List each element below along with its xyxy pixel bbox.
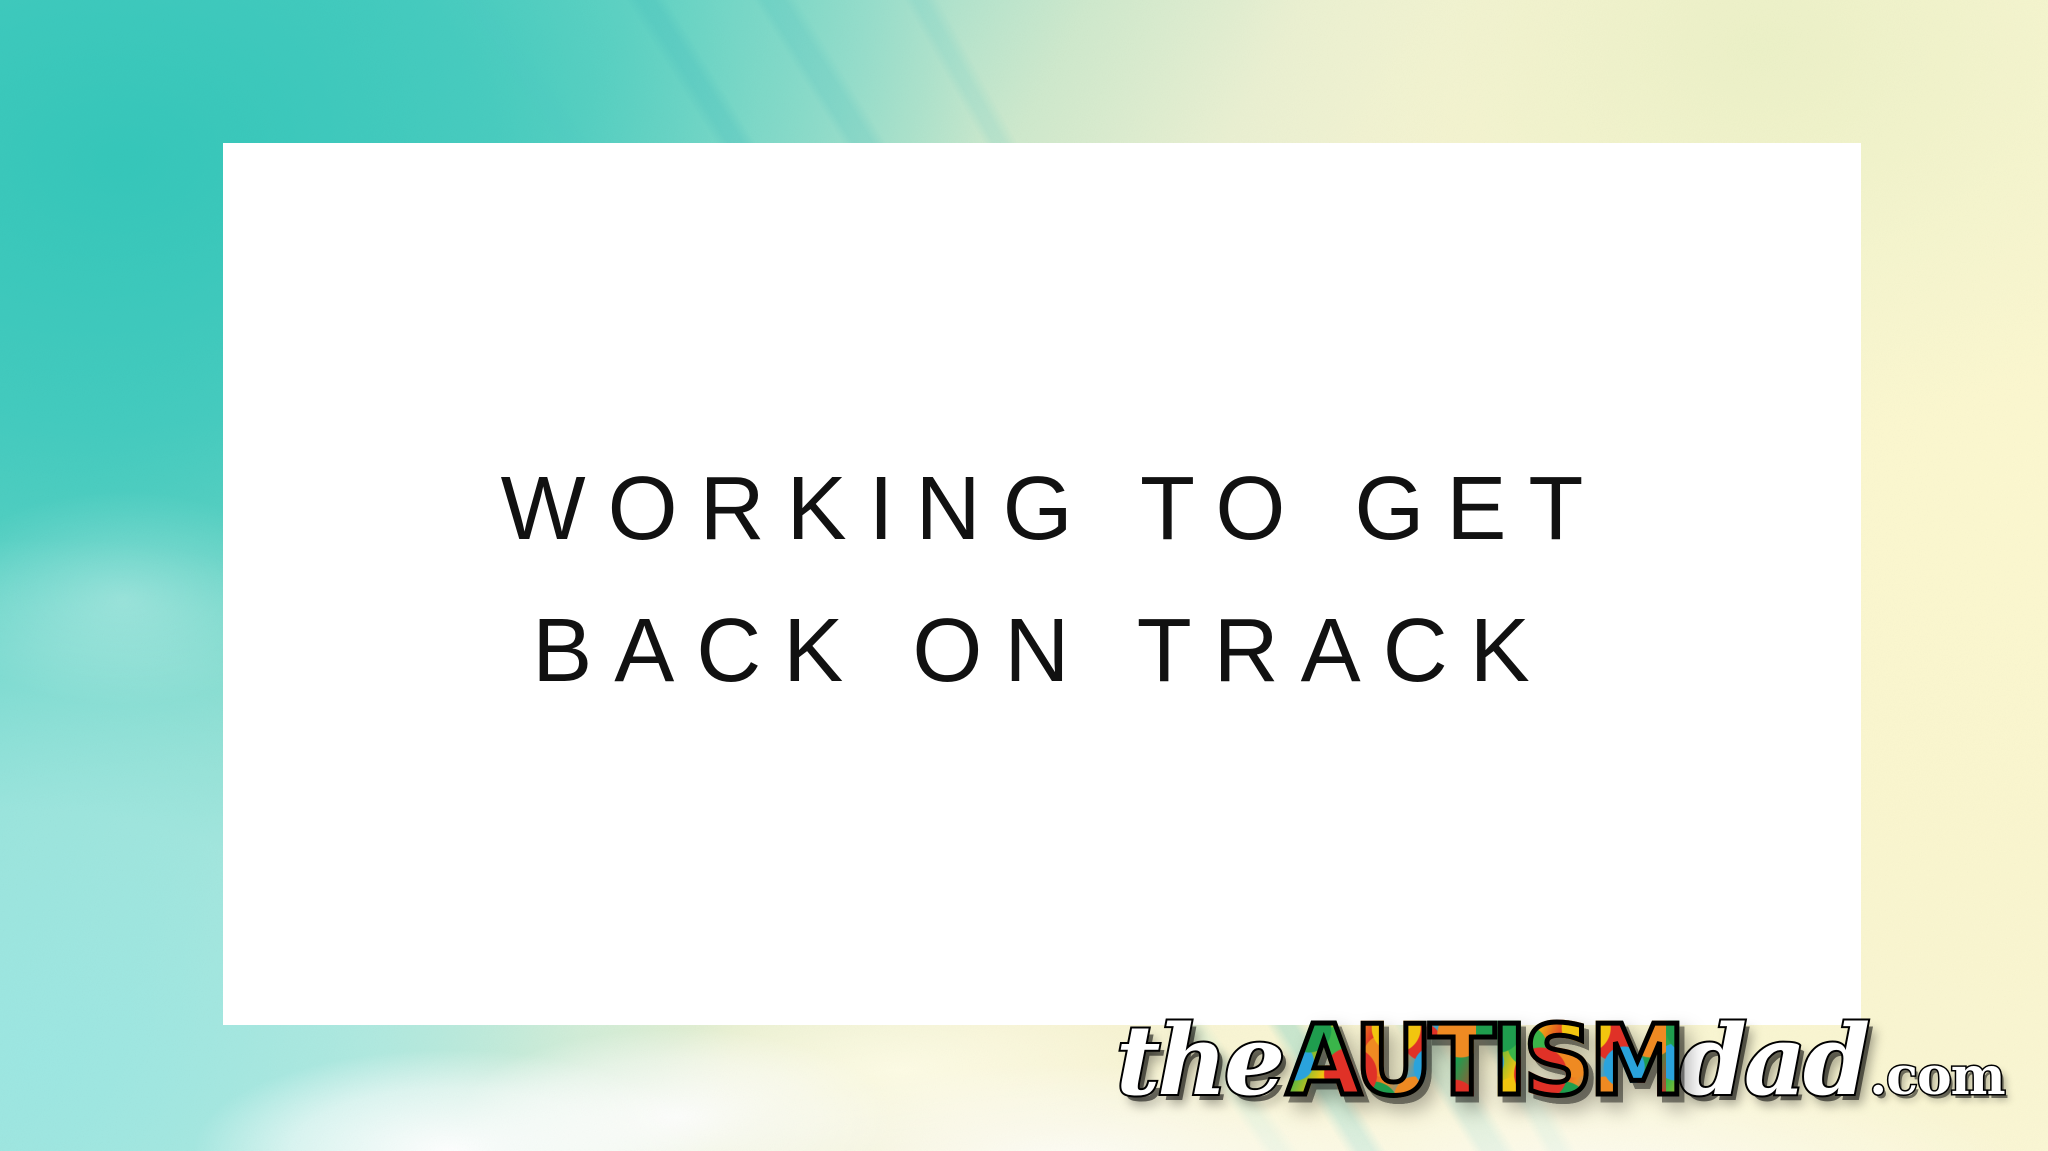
page-title: WORKING TO GET BACK ON TRACK — [449, 438, 1636, 722]
content-card: WORKING TO GET BACK ON TRACK — [223, 143, 1861, 1025]
site-logo[interactable]: the AUTISM dad .com — [1116, 1012, 2005, 1109]
logo-wordmark-autism: AUTISM — [1286, 1012, 1682, 1109]
logo-prefix-the: the — [1116, 1013, 1282, 1109]
logo-suffix-dad: dad — [1680, 1013, 1867, 1109]
slide-canvas: WORKING TO GET BACK ON TRACK the AUTISM … — [0, 0, 2048, 1151]
logo-tld-dotcom: .com — [1869, 1051, 2004, 1103]
